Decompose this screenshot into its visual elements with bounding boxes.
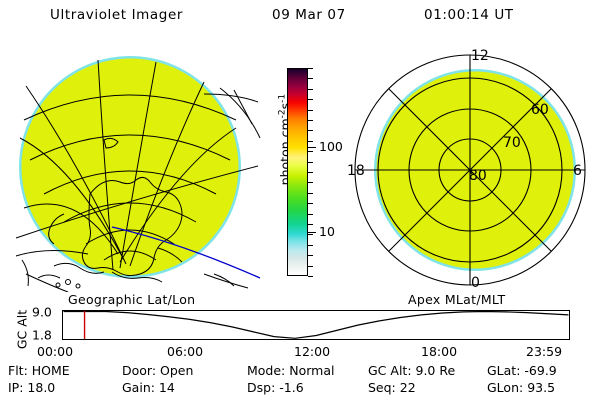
instrument-title: Ultraviolet Imager (50, 7, 183, 23)
apex-plot-svg: 12 6 0 18 60 70 80 (345, 42, 595, 292)
status-field: IP: 18.0 (8, 379, 55, 396)
status-block: Flt: HOMEDoor: OpenMode: NormalGC Alt: 9… (0, 362, 600, 396)
strip-chart-plot[interactable] (62, 310, 570, 340)
colorbar-gradient[interactable] (287, 68, 308, 276)
colorbar-tick-major (308, 232, 316, 233)
colorbar-unit-exp1: -2 (277, 109, 287, 118)
status-row: IP: 18.0Gain: 14Dsp: -1.6Seq: 22GLon: 93… (0, 379, 600, 396)
mlt-label-6: 6 (573, 163, 582, 179)
status-field: GLon: 93.5 (487, 379, 555, 396)
colorbar-tick (308, 224, 313, 225)
colorbar-tick (308, 203, 313, 204)
colorbar-tick-label: 10 (319, 226, 335, 239)
status-field-label: Seq: (368, 380, 396, 395)
status-field-label: GC Alt: (368, 363, 412, 378)
emission-disk (22, 59, 239, 276)
colorbar-tick (308, 130, 313, 131)
status-field-value: 18.0 (23, 380, 55, 395)
status-field: Gain: 14 (122, 379, 175, 396)
status-field-value: 22 (396, 380, 416, 395)
colorbar-tick (308, 99, 313, 100)
status-field-value: 93.5 (523, 380, 555, 395)
status-field-value: -69.9 (520, 363, 556, 378)
status-field-label: Dsp: (247, 380, 275, 395)
colorbar-tick (308, 193, 313, 194)
status-field-label: Mode: (247, 363, 285, 378)
colorbar-tick (308, 182, 313, 183)
colorbar-tick (308, 141, 313, 142)
status-field: Mode: Normal (247, 362, 334, 379)
colorbar-tick (308, 172, 313, 173)
status-field-value: -1.6 (275, 380, 303, 395)
altitude-trace (64, 312, 569, 339)
mlt-label-0: 0 (471, 275, 480, 291)
mlt-label-12: 12 (471, 48, 489, 64)
colorbar-tick (308, 78, 313, 79)
strip-xtick-label: 00:00 (37, 344, 73, 359)
colorbar-tick (308, 214, 313, 215)
strip-xtick-label: 12:00 (294, 344, 330, 359)
status-field-value: 14 (155, 380, 175, 395)
status-field: Dsp: -1.6 (247, 379, 304, 396)
status-row: Flt: HOMEDoor: OpenMode: NormalGC Alt: 9… (0, 362, 600, 379)
colorbar-tick (308, 266, 313, 267)
status-field-label: Flt: (8, 363, 28, 378)
status-field-value: Open (156, 363, 193, 378)
colorbar-tick (308, 68, 313, 69)
strip-ytick-low: 1.8 (32, 328, 52, 343)
geographic-plot-svg (8, 42, 263, 292)
strip-chart-ylabel: GC Alt (15, 310, 30, 349)
strip-ytick-high: 9.0 (32, 305, 52, 320)
mlat-label-80: 80 (469, 168, 487, 184)
status-field-value: Normal (285, 363, 334, 378)
uvi-viewer-window: Ultraviolet Imager 09 Mar 07 01:00:14 UT (0, 0, 600, 400)
observation-time: 01:00:14 UT (424, 7, 514, 23)
colorbar-tick (308, 245, 313, 246)
colorbar-tick (308, 110, 313, 111)
geographic-image-panel[interactable] (8, 42, 263, 292)
colorbar-tick (308, 151, 313, 152)
status-field-value: HOME (28, 363, 70, 378)
status-field: Flt: HOME (8, 362, 70, 379)
apex-image-panel[interactable]: 12 6 0 18 60 70 80 (345, 42, 595, 292)
strip-xtick-label: 06:00 (167, 344, 203, 359)
colorbar-tick (308, 255, 313, 256)
observation-date: 09 Mar 07 (272, 7, 346, 23)
status-field: GLat: -69.9 (487, 362, 557, 379)
colorbar-tick (308, 162, 313, 163)
colorbar-tick (308, 120, 313, 121)
colorbar-group: photon cm-2s-1 10010 (262, 60, 342, 290)
status-field: GC Alt: 9.0 Re (368, 362, 455, 379)
mlat-label-70: 70 (503, 135, 521, 151)
strip-xtick-label: 23:59 (526, 344, 562, 359)
colorbar-tick (308, 89, 313, 90)
colorbar-tick (308, 276, 313, 277)
colorbar-tick-label: 100 (319, 141, 343, 154)
status-field: Door: Open (122, 362, 193, 379)
colorbar-unit-exp2: -1 (277, 94, 287, 103)
status-field-label: Gain: (122, 380, 155, 395)
status-field-label: IP: (8, 380, 23, 395)
status-field-label: GLon: (487, 380, 523, 395)
mlt-label-18: 18 (347, 163, 365, 179)
colorbar-tick (308, 234, 313, 235)
status-field: Seq: 22 (368, 379, 416, 396)
colorbar-tick-major (308, 147, 316, 148)
status-field-label: GLat: (487, 363, 520, 378)
strip-xtick-label: 18:00 (421, 344, 457, 359)
status-field-label: Door: (122, 363, 156, 378)
mlat-label-60: 60 (531, 102, 549, 118)
status-field-value: 9.0 Re (412, 363, 456, 378)
